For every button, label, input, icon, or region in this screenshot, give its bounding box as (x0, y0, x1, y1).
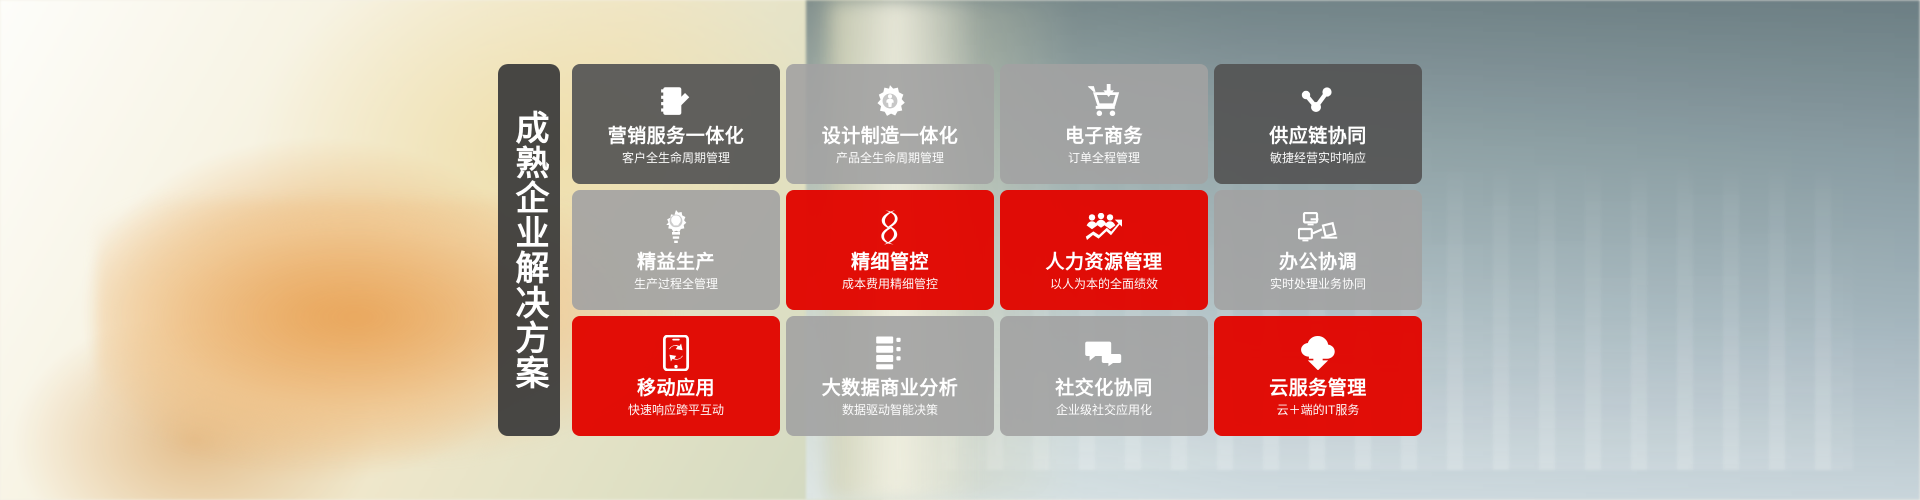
card-subtitle: 生产过程全管理 (634, 278, 718, 291)
card-subtitle: 成本费用精细管控 (842, 278, 938, 291)
solution-card[interactable]: 电子商务订单全程管理 (1000, 64, 1208, 184)
card-title: 营销服务一体化 (608, 127, 745, 148)
shopping-cart-download-icon (1086, 81, 1122, 121)
solution-card[interactable]: 精细管控成本费用精细管控 (786, 190, 994, 310)
card-title: 大数据商业分析 (822, 379, 959, 400)
card-subtitle: 企业级社交应用化 (1056, 404, 1152, 417)
solution-card[interactable]: 云服务管理云＋端的IT服务 (1214, 316, 1422, 436)
card-subtitle: 快速响应跨平互动 (628, 404, 724, 417)
solution-card[interactable]: 精益生产生产过程全管理 (572, 190, 780, 310)
card-subtitle: 实时处理业务协同 (1270, 278, 1366, 291)
solution-card[interactable]: 设计制造一体化产品全生命周期管理 (786, 64, 994, 184)
document-edit-icon (659, 81, 693, 121)
card-subtitle: 产品全生命周期管理 (836, 152, 944, 165)
vertical-title-bar: 成熟企业解决方案 (498, 64, 560, 436)
card-title: 云服务管理 (1269, 379, 1367, 400)
card-subtitle: 以人为本的全面绩效 (1050, 278, 1158, 291)
network-nodes-icon (1300, 81, 1336, 121)
solution-card[interactable]: 移动应用快速响应跨平互动 (572, 316, 780, 436)
gear-person-icon (873, 81, 907, 121)
card-title: 精益生产 (637, 253, 715, 274)
card-title: 人力资源管理 (1045, 253, 1162, 274)
card-title: 精细管控 (851, 253, 929, 274)
server-database-icon (875, 333, 905, 373)
mobile-phone-sync-icon (661, 333, 691, 373)
chat-bubbles-icon (1085, 333, 1123, 373)
connected-computers-icon (1298, 207, 1338, 247)
card-title: 办公协调 (1279, 253, 1357, 274)
solution-card[interactable]: 营销服务一体化客户全生命周期管理 (572, 64, 780, 184)
people-growth-icon (1085, 207, 1123, 247)
card-title: 社交化协同 (1055, 379, 1153, 400)
solution-card[interactable]: 大数据商业分析数据驱动智能决策 (786, 316, 994, 436)
lightbulb-gear-icon (660, 207, 692, 247)
card-title: 电子商务 (1065, 127, 1143, 148)
card-subtitle: 客户全生命周期管理 (622, 152, 730, 165)
solution-card-grid: 营销服务一体化客户全生命周期管理设计制造一体化产品全生命周期管理电子商务订单全程… (572, 64, 1422, 436)
card-title: 设计制造一体化 (822, 127, 959, 148)
card-subtitle: 云＋端的IT服务 (1277, 404, 1360, 417)
page-title: 成熟企业解决方案 (511, 110, 547, 390)
solution-card[interactable]: 办公协调实时处理业务协同 (1214, 190, 1422, 310)
cloud-download-icon (1300, 333, 1336, 373)
solutions-board: 成熟企业解决方案 营销服务一体化客户全生命周期管理设计制造一体化产品全生命周期管… (498, 64, 1422, 436)
banner-stage: 成熟企业解决方案 营销服务一体化客户全生命周期管理设计制造一体化产品全生命周期管… (0, 0, 1920, 500)
solution-card[interactable]: 人力资源管理以人为本的全面绩效 (1000, 190, 1208, 310)
card-title: 供应链协同 (1269, 127, 1367, 148)
card-title: 移动应用 (637, 379, 715, 400)
money-coin-icon (875, 207, 905, 247)
solution-card[interactable]: 供应链协同敏捷经营实时响应 (1214, 64, 1422, 184)
card-subtitle: 敏捷经营实时响应 (1270, 152, 1366, 165)
solution-card[interactable]: 社交化协同企业级社交应用化 (1000, 316, 1208, 436)
card-subtitle: 订单全程管理 (1068, 152, 1140, 165)
card-subtitle: 数据驱动智能决策 (842, 404, 938, 417)
